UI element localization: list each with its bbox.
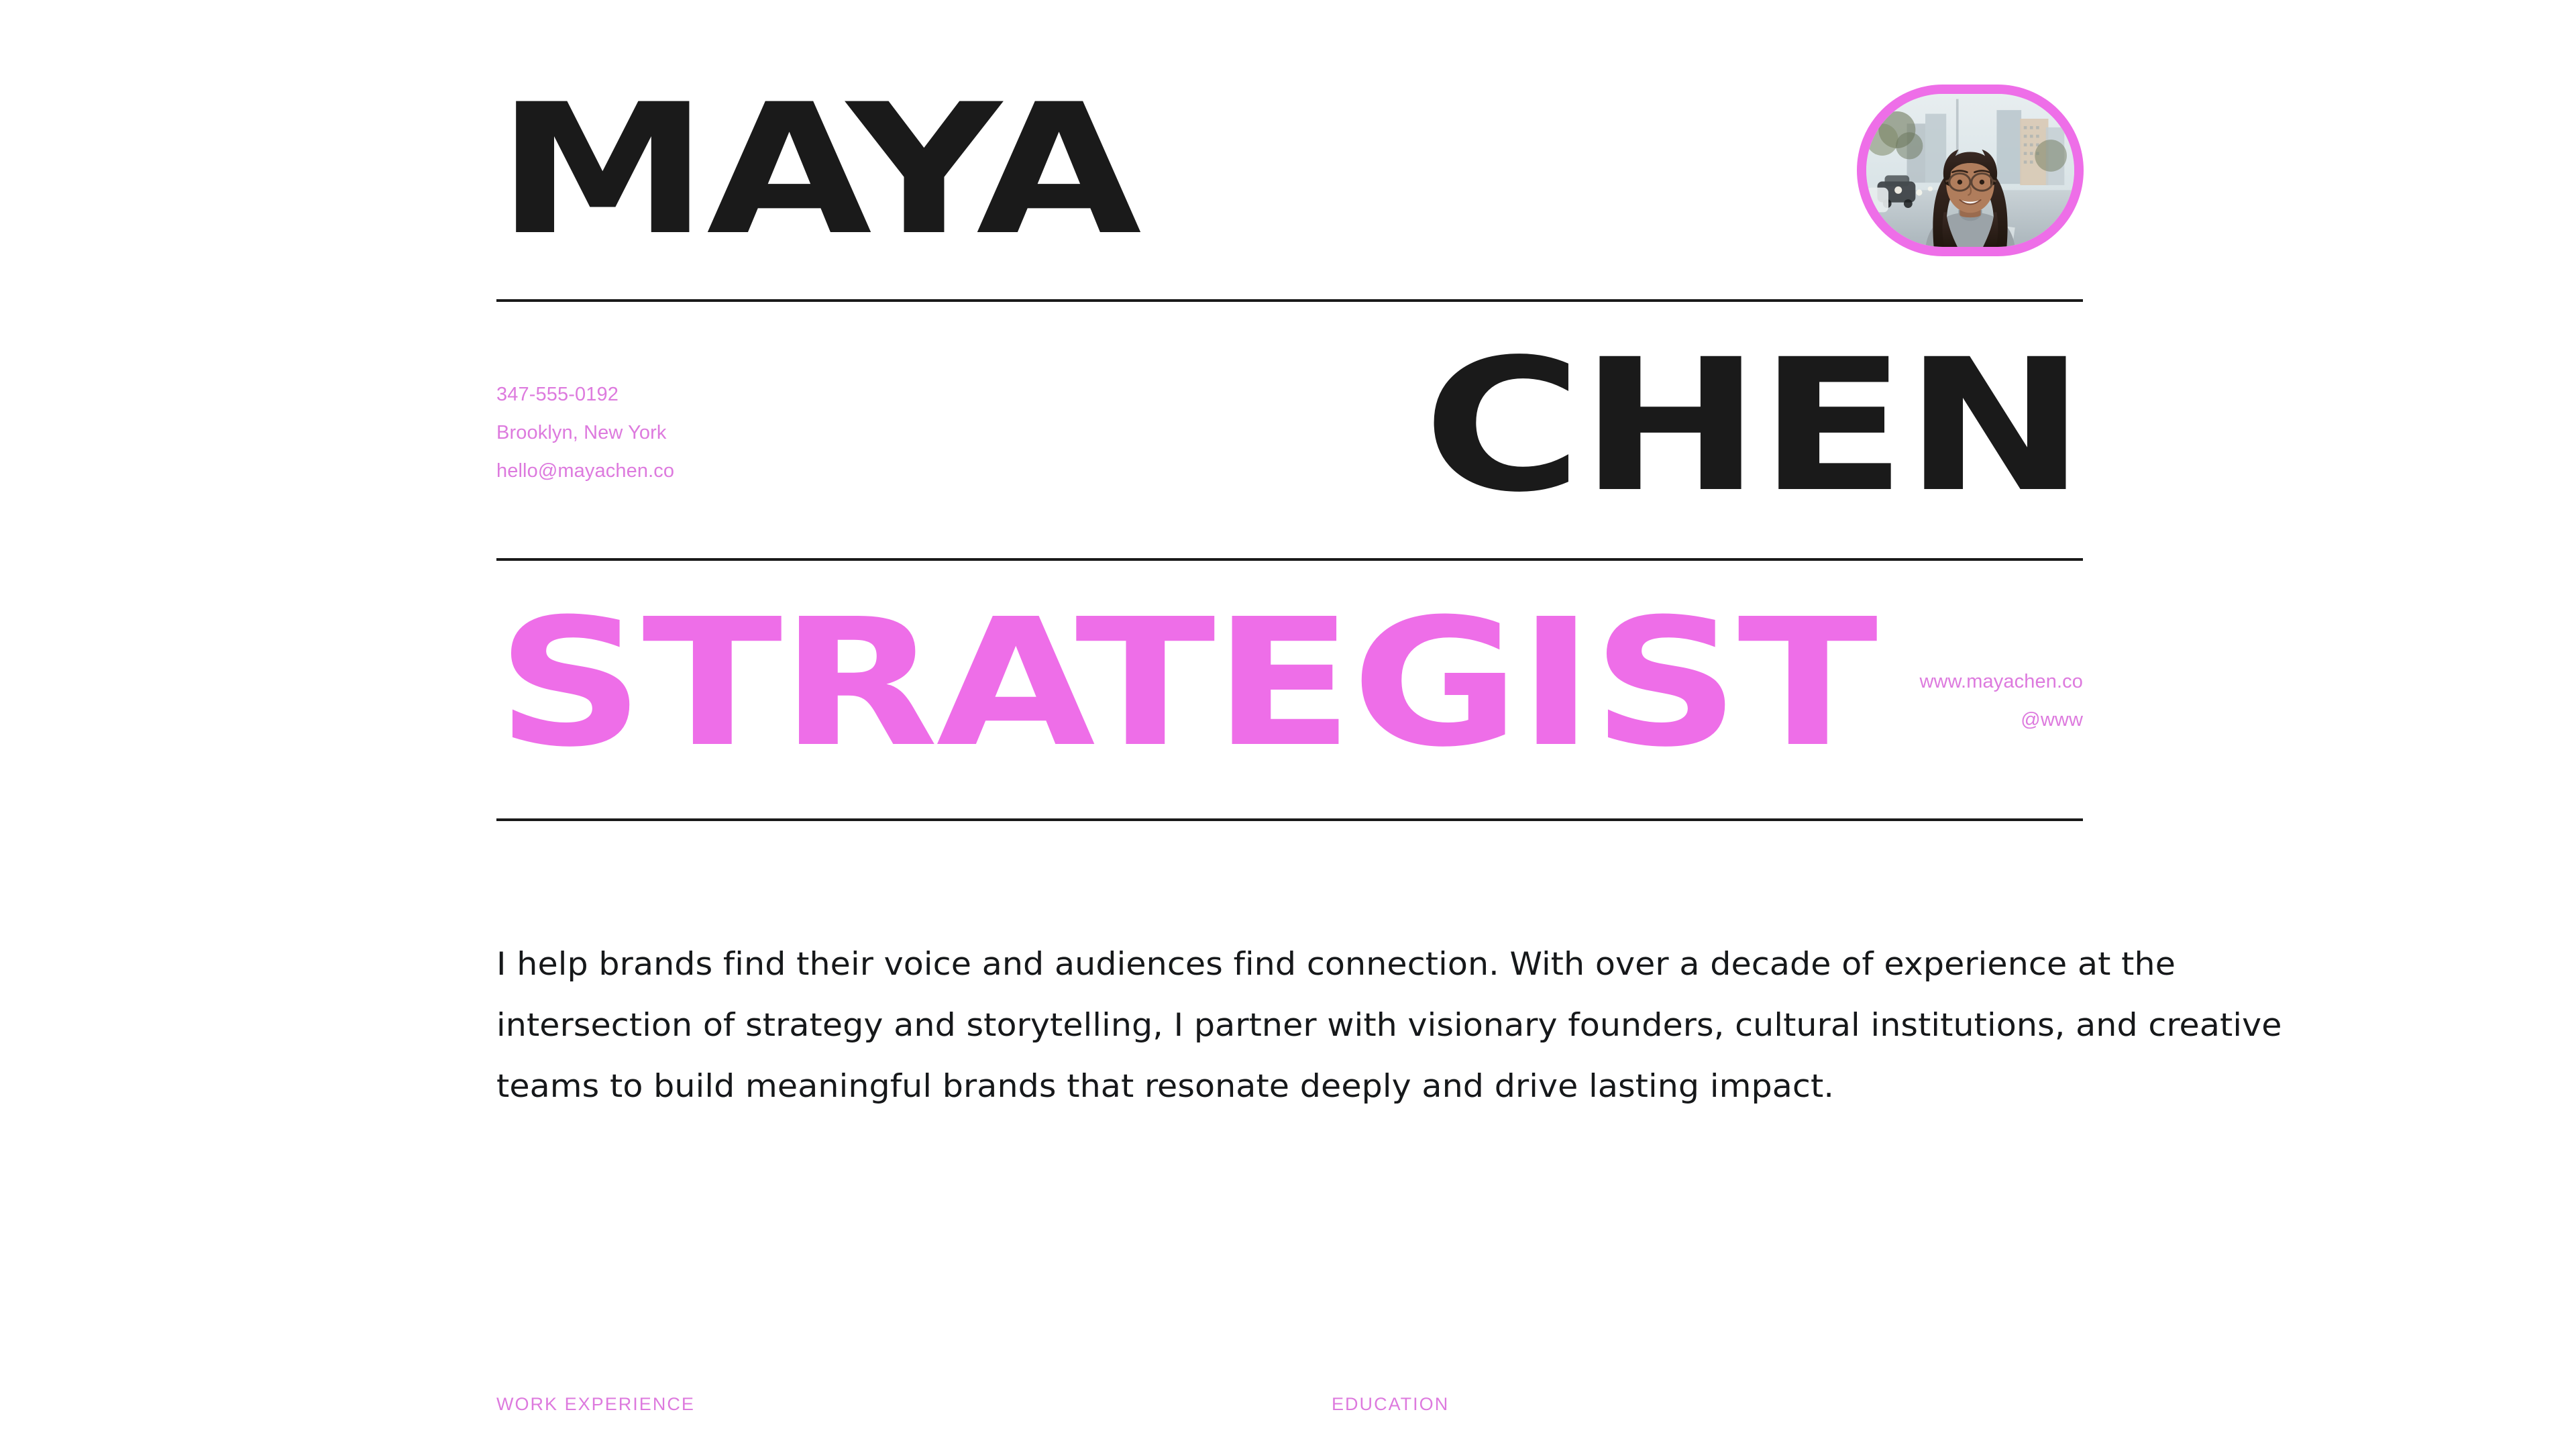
contact-location: Brooklyn, New York	[496, 414, 674, 452]
section-label-education: EDUCATION	[1332, 1394, 1449, 1415]
avatar	[1857, 85, 2084, 256]
divider-top	[496, 299, 2083, 302]
role-heading: STRATEGIST	[496, 596, 1876, 771]
links-block: www.mayachen.co @www	[1919, 663, 2083, 739]
divider-middle	[496, 558, 2083, 561]
resume-page: MAYA	[0, 0, 2576, 1449]
bio-paragraph: I help brands find their voice and audie…	[496, 934, 2364, 1117]
divider-bottom	[496, 818, 2083, 821]
social-handle-link[interactable]: @www	[1919, 701, 2083, 739]
contact-block: 347-555-0192 Brooklyn, New York hello@ma…	[496, 376, 674, 490]
first-name-heading: MAYA	[496, 80, 1139, 260]
contact-email[interactable]: hello@mayachen.co	[496, 452, 674, 490]
website-link[interactable]: www.mayachen.co	[1919, 663, 2083, 701]
contact-phone[interactable]: 347-555-0192	[496, 376, 674, 414]
section-label-work-experience: WORK EXPERIENCE	[496, 1394, 695, 1415]
last-name-heading: CHEN	[1423, 335, 2083, 518]
avatar-photo	[1866, 94, 2074, 247]
